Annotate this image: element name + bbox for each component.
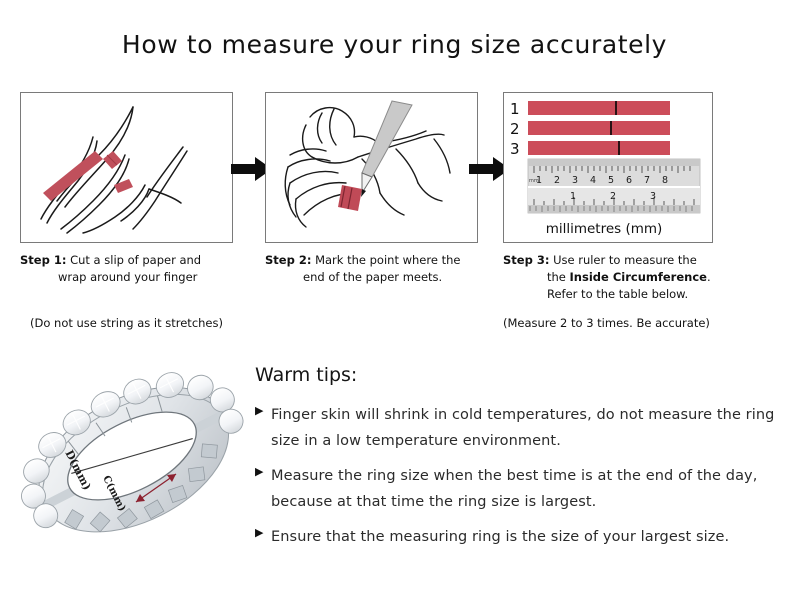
tip-item: ▶ Measure the ring size when the best ti…	[255, 463, 775, 515]
ruler-with-paper-strips-icon: 1 2 3 1 2 3 4	[504, 93, 712, 242]
step-3-line1: Use ruler to measure the	[553, 253, 697, 267]
step-3-caption: Step 3: Use ruler to measure the the Ins…	[503, 252, 753, 303]
svg-text:mm: mm	[529, 178, 539, 184]
hand-marking-paper-with-pen-icon	[266, 93, 477, 242]
page-title: How to measure your ring size accurately	[0, 30, 789, 59]
strip-number-2: 2	[510, 120, 520, 138]
svg-text:3: 3	[650, 191, 656, 202]
step-3-illustration-panel: 1 2 3 1 2 3 4	[503, 92, 713, 243]
svg-text:2: 2	[610, 191, 616, 202]
svg-text:1: 1	[570, 191, 576, 202]
tip-text: Ensure that the measuring ring is the si…	[271, 524, 729, 550]
tip-text: Measure the ring size when the best time…	[271, 463, 775, 515]
step-2-line2: end of the paper meets.	[265, 269, 495, 286]
strip-number-3: 3	[510, 140, 520, 158]
tip-item: ▶ Finger skin will shrink in cold temper…	[255, 402, 775, 454]
step-2-illustration-panel	[265, 92, 478, 243]
svg-text:7: 7	[644, 175, 650, 186]
svg-text:3: 3	[572, 175, 578, 186]
eternity-ring-photo-icon	[18, 352, 246, 566]
step-2-line1: Mark the point where the	[315, 253, 460, 267]
svg-text:4: 4	[590, 175, 596, 186]
step-1-label: Step 1:	[20, 253, 66, 267]
ring-diagram: D(mm) C(mm)	[18, 352, 246, 566]
step-1-note: (Do not use string as it stretches)	[30, 316, 223, 330]
svg-text:5: 5	[608, 175, 614, 186]
hand-with-paper-slip-icon	[21, 93, 232, 242]
step-1-line1: Cut a slip of paper and	[70, 253, 201, 267]
step-2-label: Step 2:	[265, 253, 311, 267]
step-3-label: Step 3:	[503, 253, 549, 267]
svg-text:2: 2	[554, 175, 560, 186]
triangle-right-bullet-icon: ▶	[255, 528, 271, 539]
ring-size-guide-page: How to measure your ring size accurately	[0, 0, 789, 606]
svg-text:6: 6	[626, 175, 632, 186]
triangle-right-bullet-icon: ▶	[255, 467, 271, 478]
step-1-line2: wrap around your finger	[20, 269, 250, 286]
warm-tips-heading: Warm tips:	[255, 364, 775, 386]
tip-item: ▶ Ensure that the measuring ring is the …	[255, 524, 775, 550]
warm-tips-section: Warm tips: ▶ Finger skin will shrink in …	[255, 364, 775, 559]
step-3-inside-circumference-emphasis: Inside Circumference	[570, 270, 707, 284]
ruler-caption: millimetres (mm)	[546, 221, 663, 237]
step-3-line3: Refer to the table below.	[503, 286, 753, 303]
step-3-line2-prefix: the	[547, 270, 570, 284]
step-3-line2-suffix: .	[707, 270, 711, 284]
step-2-caption: Step 2: Mark the point where the end of …	[265, 252, 495, 286]
step-1-illustration-panel	[20, 92, 233, 243]
step-1-caption: Step 1: Cut a slip of paper and wrap aro…	[20, 252, 250, 286]
step-3-note: (Measure 2 to 3 times. Be accurate)	[503, 316, 710, 330]
strip-number-1: 1	[510, 100, 520, 118]
triangle-right-bullet-icon: ▶	[255, 406, 271, 417]
tip-text: Finger skin will shrink in cold temperat…	[271, 402, 775, 454]
svg-text:8: 8	[662, 175, 668, 186]
step-3-line2: the Inside Circumference.	[503, 269, 753, 286]
